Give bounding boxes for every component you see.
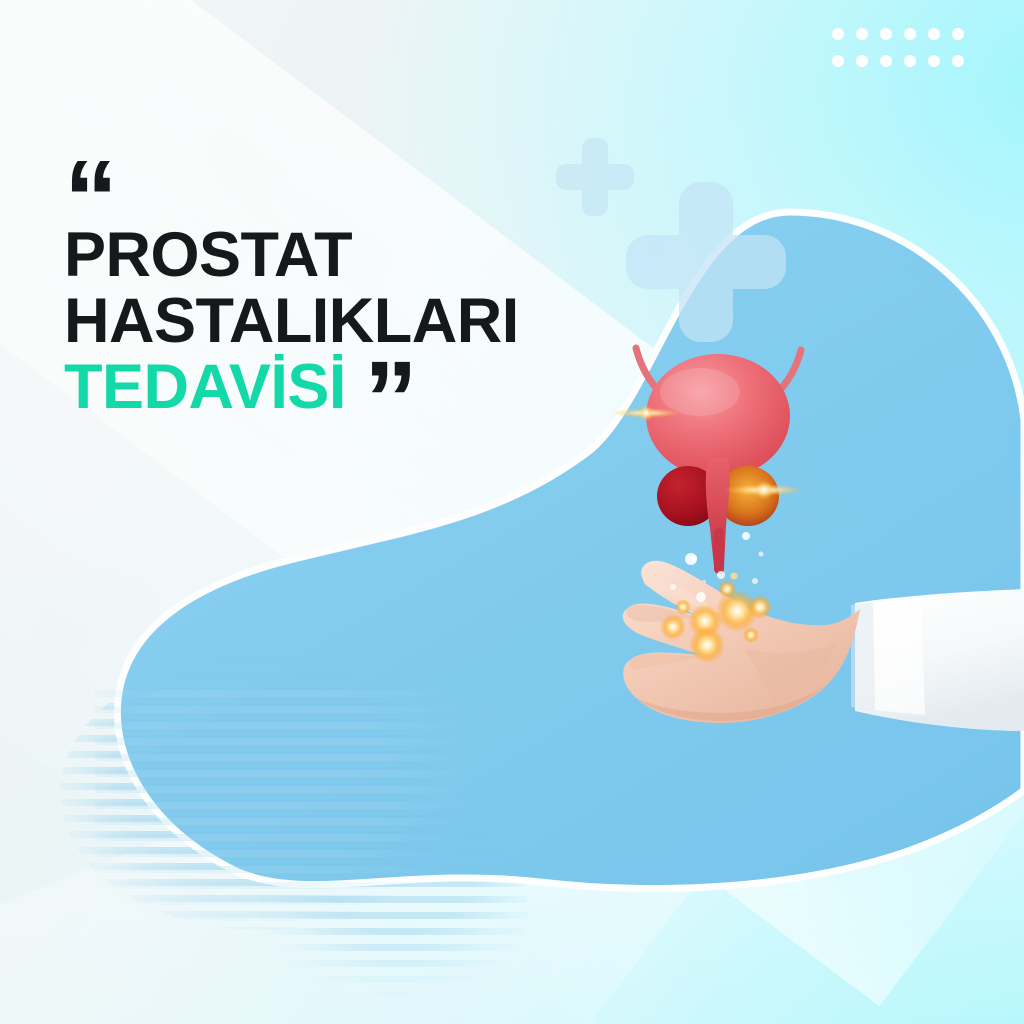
blue-blob-shape [0,0,1024,1024]
dot [856,28,868,40]
background-diagonal-sheen-a [0,0,938,1024]
dot-grid [832,28,976,82]
stripe-overlay-on-blob [95,690,465,935]
quote-open-mark: “ [64,165,684,223]
dot [832,55,844,67]
headline-line-3-accent: TEDAVİSİ [64,355,346,421]
headline-accent-row: TEDAVİSİ ” [64,354,684,421]
stripe-pattern [60,655,460,930]
headline-line-1: PROSTAT [64,223,684,289]
dot [904,55,916,67]
dot [904,28,916,40]
dot [928,55,940,67]
stripe-circle-large [60,655,460,930]
dot [928,28,940,40]
dot [880,28,892,40]
quote-close-mark: ” [364,366,414,433]
dot [832,28,844,40]
background-cyan-wash-bottom [0,0,1024,1024]
background-cyan-wash-top [0,0,1024,1024]
poster-canvas: “ PROSTAT HASTALIKLARI TEDAVİSİ ” [0,0,1024,1024]
dot [880,55,892,67]
background-diagonal-sheen-b [0,0,1024,1006]
stripe-pattern [258,800,528,1020]
dot [856,55,868,67]
background-diagonal-sheen-c [0,490,1024,1024]
headline-block: “ PROSTAT HASTALIKLARI TEDAVİSİ ” [64,165,684,421]
dot [952,28,964,40]
dot [952,55,964,67]
open-hand-illustration [555,545,1024,785]
plus-vertical-bar [679,182,733,342]
stripe-circle-small [258,800,528,1020]
